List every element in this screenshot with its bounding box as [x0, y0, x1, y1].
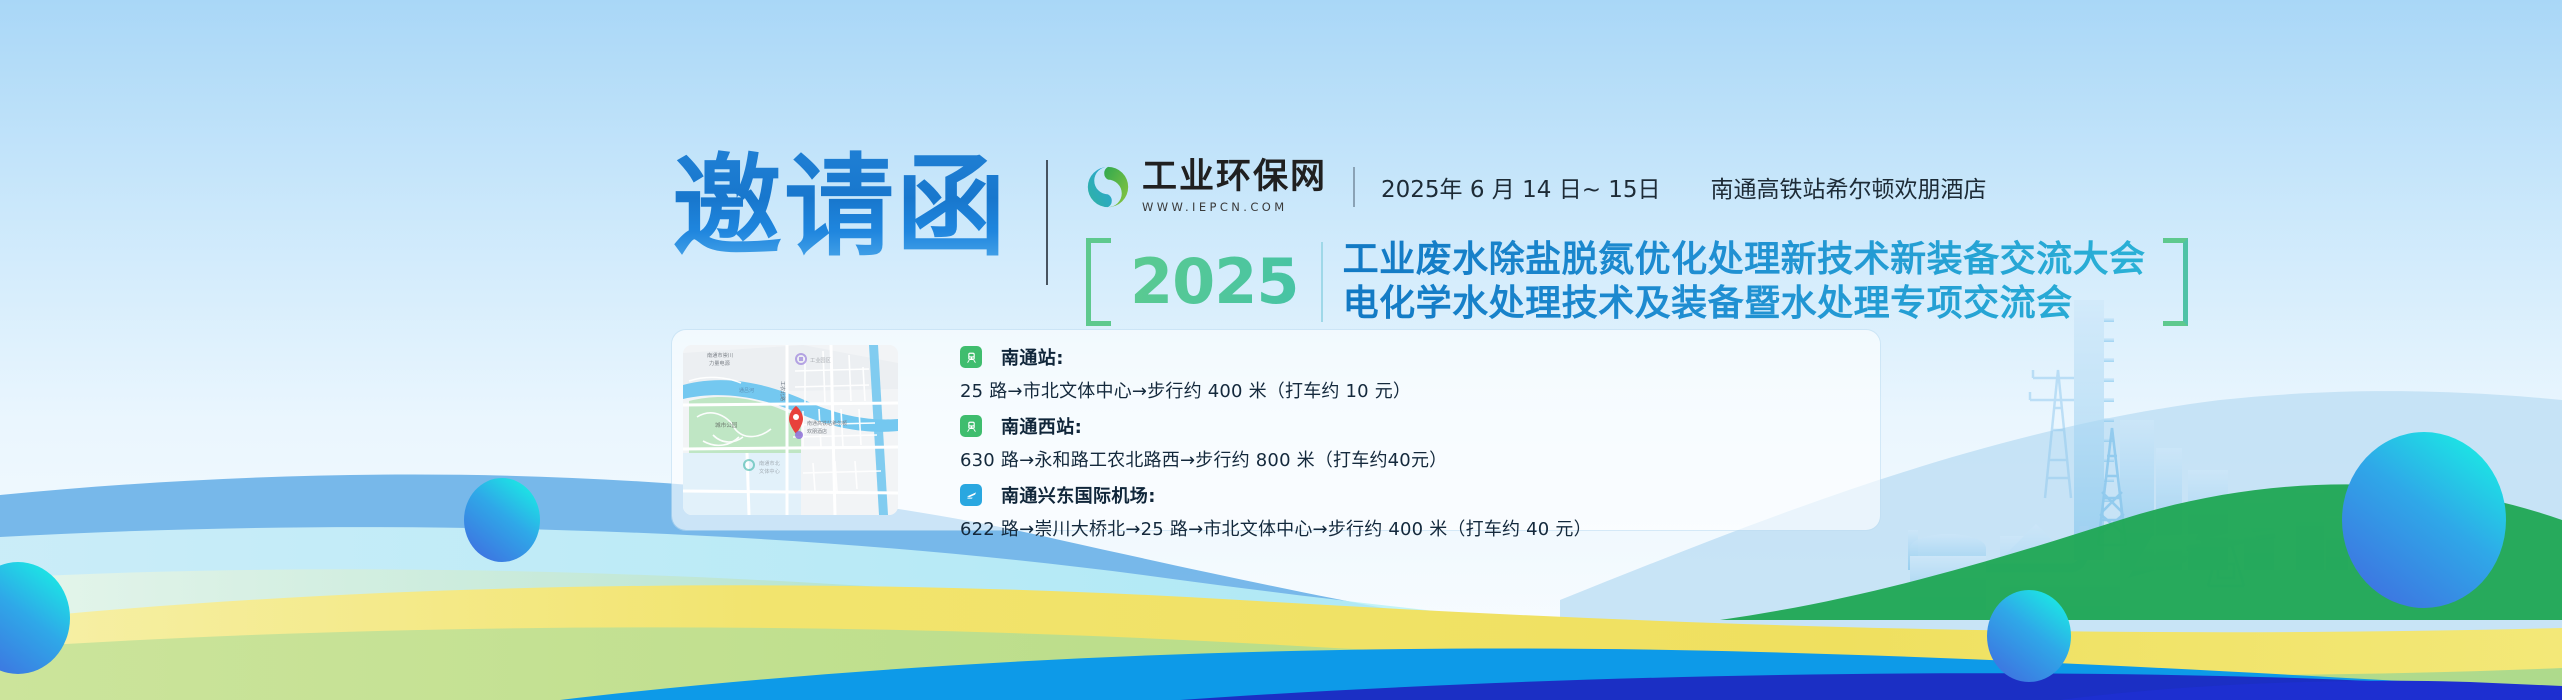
route-item: 南通兴东国际机场: 622 路→崇川大桥北→25 路→市北文体中心→步行约 40… — [960, 482, 1860, 541]
page-title: 邀请函 — [672, 150, 1008, 266]
conference-title-block: 2025 工业废水除盐脱氮优化处理新技术新装备交流大会 电化学水处理技术及装备暨… — [1086, 238, 2188, 326]
svg-text:南通高铁站希尔顿: 南通高铁站希尔顿 — [807, 420, 847, 427]
event-venue: 南通高铁站希尔顿欢朋酒店 — [1711, 170, 1987, 204]
ring-leaf-logo-icon — [1086, 165, 1130, 209]
venue-map-thumbnail[interactable]: 工业园区 南通市北 文体中心 城市公园 通吕河 工农北路 南通市崇川 力量电源 … — [683, 345, 898, 515]
route-description: 630 路→永和路工农北路西→步行约 800 米（打车约40元） — [960, 446, 1860, 472]
svg-text:工业园区: 工业园区 — [810, 356, 831, 364]
meta-divider — [1353, 167, 1355, 207]
svg-text:南通市崇川: 南通市崇川 — [707, 351, 733, 359]
svg-text:南通市北: 南通市北 — [759, 459, 781, 467]
headline-divider — [1046, 160, 1048, 285]
conference-title-line1: 工业废水除盐脱氮优化处理新技术新装备交流大会 — [1343, 238, 2146, 282]
svg-text:文体中心: 文体中心 — [759, 467, 780, 475]
headline-row: 邀请函 — [672, 150, 2188, 326]
conference-year: 2025 — [1106, 238, 1321, 326]
route-description: 622 路→崇川大桥北→25 路→市北文体中心→步行约 400 米（打车约 40… — [960, 515, 1860, 541]
event-date: 2025年 6 月 14 日~ 15日 — [1381, 170, 1661, 204]
route-name: 南通兴东国际机场: — [1001, 482, 1156, 508]
svg-text:通吕河: 通吕河 — [739, 387, 754, 394]
invitation-banner: 邀请函 — [0, 0, 2562, 700]
brand-url: WWW.IEPCN.COM — [1142, 200, 1327, 214]
brand-name: 工业环保网 — [1142, 160, 1327, 195]
route-item: 南通站: 25 路→市北文体中心→步行约 400 米（打车约 10 元） — [960, 344, 1860, 403]
map-graphic: 工业园区 南通市北 文体中心 城市公园 通吕河 工农北路 南通市崇川 力量电源 … — [683, 345, 898, 515]
route-name: 南通西站: — [1001, 413, 1082, 439]
airplane-icon — [960, 484, 982, 506]
route-item: 南通西站: 630 路→永和路工农北路西→步行约 800 米（打车约40元） — [960, 413, 1860, 472]
svg-text:工农北路: 工农北路 — [779, 381, 786, 401]
brand-meta-row: 工业环保网 WWW.IEPCN.COM 2025年 6 月 14 日~ 15日 … — [1086, 156, 2188, 218]
route-description: 25 路→市北文体中心→步行约 400 米（打车约 10 元） — [960, 377, 1860, 403]
brand-logo: 工业环保网 WWW.IEPCN.COM — [1086, 160, 1327, 214]
train-icon — [960, 415, 982, 437]
bracket-left-icon — [1086, 238, 1106, 326]
svg-text:城市公园: 城市公园 — [715, 421, 738, 429]
route-name: 南通站: — [1001, 344, 1064, 370]
train-icon — [960, 346, 982, 368]
transport-route-list: 南通站: 25 路→市北文体中心→步行约 400 米（打车约 10 元） — [960, 344, 1860, 551]
svg-text:力量电源: 力量电源 — [709, 359, 731, 367]
conference-title-line2: 电化学水处理技术及装备暨水处理专项交流会 — [1343, 282, 2146, 326]
svg-text:欢朋酒店: 欢朋酒店 — [807, 428, 827, 435]
bracket-right-icon — [2168, 238, 2188, 326]
